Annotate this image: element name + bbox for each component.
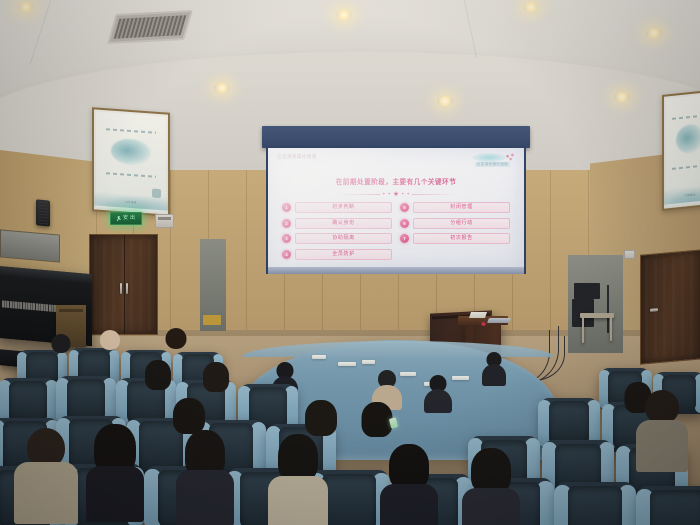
downlight-icon <box>614 92 630 102</box>
side-door-right[interactable] <box>640 249 700 364</box>
attendee <box>424 375 452 411</box>
door-handle-icon[interactable] <box>120 283 122 294</box>
slide-column-left: 1 初步判断 2 确认身份 3 协助隔离 4 全员防护 <box>282 202 392 260</box>
step-label: 确认身份 <box>295 218 392 229</box>
control-room-doorway[interactable] <box>568 255 623 353</box>
exit-sign-label-left: 安 <box>123 216 129 221</box>
star-icon: ✦ <box>407 192 410 196</box>
table-leg-icon <box>582 317 584 343</box>
step-label: 初次报告 <box>413 233 510 244</box>
wall-speaker-icon <box>36 199 50 226</box>
screen-valance <box>262 126 530 148</box>
attendee <box>160 328 192 360</box>
step-label: 分组行动 <box>413 218 510 229</box>
confetti-icon <box>504 153 516 161</box>
paper-on-desk <box>312 355 326 359</box>
list-item: 6 分组行动 <box>400 218 510 229</box>
attendee <box>268 434 328 525</box>
list-item: 4 全员防护 <box>282 249 392 260</box>
paper-on-desk <box>338 362 356 366</box>
monitor-icon <box>574 283 600 299</box>
screen-bottom-bar <box>268 267 524 274</box>
window-highlight <box>0 229 60 262</box>
exit-door-left[interactable] <box>89 234 158 335</box>
auditorium-seat <box>556 482 634 525</box>
paper-on-desk <box>452 376 469 380</box>
attendee <box>94 330 126 362</box>
step-number-badge: 3 <box>282 234 291 243</box>
wall-control-plate[interactable] <box>155 214 174 228</box>
exit-sign-label-right: 出 <box>130 216 136 221</box>
step-label: 全员防护 <box>295 249 392 260</box>
paper-on-desk <box>362 360 375 364</box>
downlight-icon <box>646 28 662 38</box>
step-label: 协助隔离 <box>295 233 392 244</box>
step-number-badge: 1 <box>282 203 291 212</box>
attendee <box>86 424 144 520</box>
attendee <box>198 362 234 396</box>
laptop-icon <box>487 318 511 323</box>
step-label: 初步判断 <box>295 202 392 213</box>
star-icon: ✦ <box>401 192 404 196</box>
attendee <box>176 430 234 524</box>
wall-control-plate[interactable] <box>624 250 635 259</box>
slide-title: 在前期处置阶段，主要有几个关键环节 <box>268 176 524 186</box>
tripod-icon <box>607 285 609 333</box>
star-icon: ✦ <box>382 192 385 196</box>
attendee <box>46 334 76 364</box>
wall-artwork-right: 宁静致远 <box>662 89 700 211</box>
running-person-icon <box>116 216 121 222</box>
attendee <box>482 352 506 384</box>
downlight-icon <box>18 2 34 12</box>
emergency-exit-sign: 安 出 <box>110 212 142 225</box>
microphone-indicator-icon <box>481 322 486 326</box>
paper-on-desk <box>400 372 416 376</box>
table-icon <box>580 313 614 318</box>
door-handle-icon[interactable] <box>126 283 128 294</box>
slide-content-columns: 1 初步判断 2 确认身份 3 协助隔离 4 全员防护 <box>268 202 524 260</box>
attendee <box>636 390 688 470</box>
side-doorway-left[interactable] <box>200 239 226 331</box>
slide-divider: ✦ ✦ ★ ✦ ✦ <box>336 190 456 198</box>
list-item: 2 确认身份 <box>282 218 392 229</box>
conference-hall-photo: 山水清音 宁静致远 安 出 <box>0 0 700 525</box>
downlight-icon <box>523 2 539 12</box>
list-item: 7 初次报告 <box>400 233 510 244</box>
attendee <box>380 444 438 525</box>
projection-screen: 应急演练操作指南 应急演练操作指南 在前期处置阶段，主要有几个关键环节 ✦ ✦ … <box>262 126 530 274</box>
downlight-icon <box>214 83 230 93</box>
attendee <box>140 360 176 394</box>
star-icon: ✦ <box>388 192 391 196</box>
wall-artwork-left: 山水清音 <box>92 107 170 216</box>
cloud-icon <box>472 153 506 162</box>
ac-vent-icon <box>107 10 193 44</box>
attendee <box>14 428 78 524</box>
downlight-icon <box>437 96 453 106</box>
document-on-lectern <box>469 312 487 318</box>
star-icon: ★ <box>393 191 399 198</box>
table-leg-icon <box>610 317 612 341</box>
auditorium-seat <box>638 486 700 525</box>
slide-header-text: 应急演练操作指南 <box>277 154 317 160</box>
screen-surface: 应急演练操作指南 应急演练操作指南 在前期处置阶段，主要有几个关键环节 ✦ ✦ … <box>268 148 524 272</box>
step-number-badge: 4 <box>282 250 291 259</box>
step-number-badge: 2 <box>282 219 291 228</box>
step-number-badge: 7 <box>400 234 409 243</box>
list-item: 1 初步判断 <box>282 202 392 213</box>
slide-column-right: 5 封闭管理 6 分组行动 7 初次报告 <box>400 202 510 260</box>
step-number-badge: 5 <box>400 203 409 212</box>
slide-logo: 应急演练操作指南 <box>454 152 518 169</box>
attendee <box>462 448 520 525</box>
list-item: 3 协助隔离 <box>282 233 392 244</box>
slide-logo-text: 应急演练操作指南 <box>475 162 510 167</box>
step-label: 封闭管理 <box>413 202 510 213</box>
list-item: 5 封闭管理 <box>400 202 510 213</box>
step-number-badge: 6 <box>400 219 409 228</box>
downlight-icon <box>336 10 352 20</box>
